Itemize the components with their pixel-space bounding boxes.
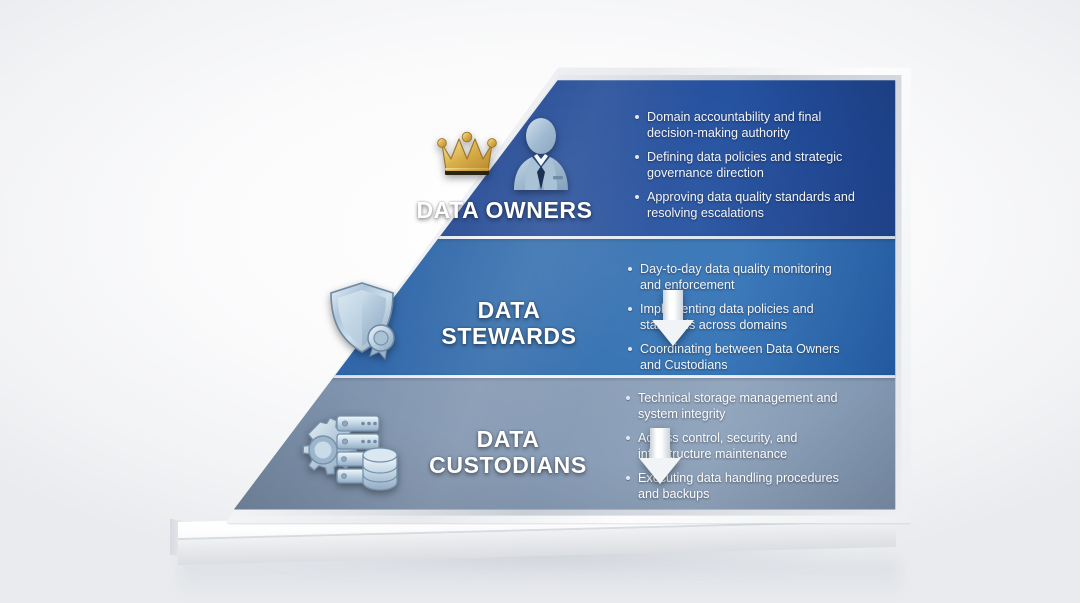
- tier-band-data-custodians: [207, 376, 900, 516]
- infographic-board: DATA OWNERS Domain accountability and fi…: [0, 0, 1080, 603]
- board-panel: [207, 76, 900, 516]
- tier-band-data-owners: [207, 76, 900, 237]
- tier-band-data-stewards: [207, 237, 900, 376]
- tier-divider-1: [207, 236, 900, 239]
- tier-divider-2: [207, 375, 900, 378]
